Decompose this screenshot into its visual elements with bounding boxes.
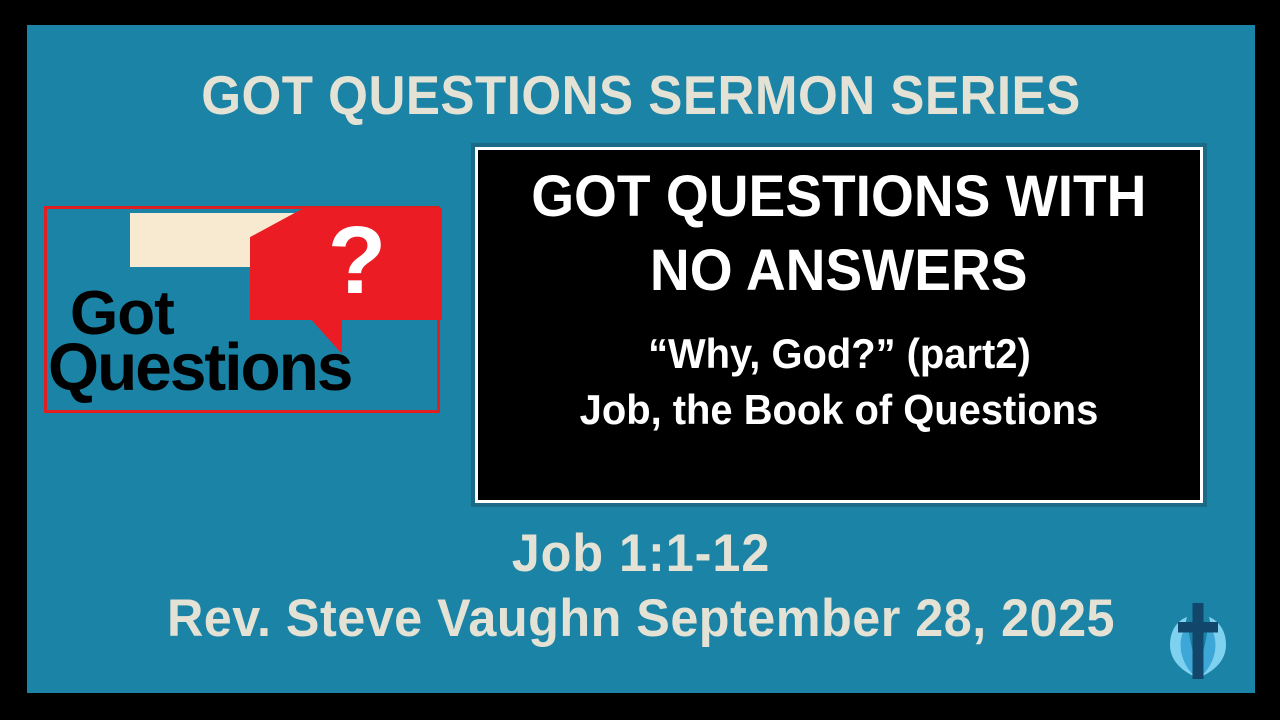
sermon-headline-line-1: GOT QUESTIONS WITH [531,160,1146,234]
sermon-title-box: GOT QUESTIONS WITH NO ANSWERS “Why, God?… [471,143,1207,507]
sermon-title-box-inner: GOT QUESTIONS WITH NO ANSWERS “Why, God?… [475,147,1203,503]
logo-word-questions: Questions [48,334,351,401]
sermon-headline-line-2: NO ANSWERS [650,234,1028,308]
scripture-reference: Job 1:1-12 [58,525,1225,583]
speaker-and-date: Rev. Steve Vaughn September 28, 2025 [58,590,1225,648]
sermon-subtitle-line-1: “Why, God?” (part2) [648,326,1031,382]
church-logo [1150,593,1246,689]
slide-root: GOT QUESTIONS SERMON SERIES ? Got Questi… [0,0,1280,720]
sermon-subtitle-line-2: Job, the Book of Questions [580,382,1099,438]
slide-canvas: GOT QUESTIONS SERMON SERIES ? Got Questi… [27,25,1255,693]
cross-with-flames-icon [1150,593,1246,689]
question-mark-icon: ? [312,213,402,309]
series-title: GOT QUESTIONS SERMON SERIES [70,63,1212,127]
got-questions-logo: ? Got Questions [44,206,440,413]
